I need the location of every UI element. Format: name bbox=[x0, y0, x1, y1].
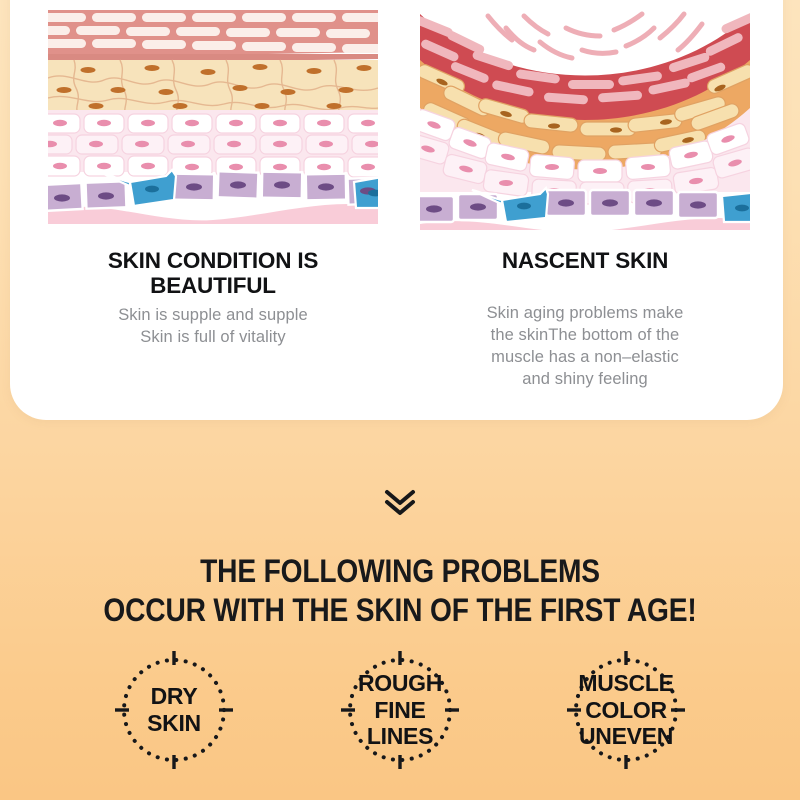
panel-nascent-skin: NASCENT SKIN Skin aging problems make th… bbox=[420, 0, 750, 400]
problem-badge-line: MUSCLE bbox=[578, 670, 673, 697]
healthy-skin-illustration bbox=[48, 10, 378, 240]
panel-title: SKIN CONDITION IS BEAUTIFUL bbox=[48, 248, 378, 299]
panel-body: Skin is supple and supple Skin is full o… bbox=[48, 305, 378, 349]
problem-badge-line: LINES bbox=[367, 723, 433, 750]
panel-body-line: Skin is supple and supple bbox=[48, 305, 378, 327]
problem-badge-label: ROUGH FINE LINES bbox=[317, 645, 483, 775]
panel-body-line: muscle has a non–elastic bbox=[420, 347, 750, 369]
panel-healthy-skin: SKIN CONDITION IS BEAUTIFUL Skin is supp… bbox=[48, 0, 378, 400]
problem-badge-rough-fine-lines: ROUGH FINE LINES bbox=[335, 645, 465, 775]
problem-badge-line: DRY bbox=[151, 683, 198, 710]
panel-body-line: and shiny feeling bbox=[420, 369, 750, 391]
page-headline: THE FOLLOWING PROBLEMS OCCUR WITH THE SK… bbox=[0, 552, 800, 631]
problem-badge-line: ROUGH bbox=[358, 670, 442, 697]
panel-body-line: Skin aging problems make bbox=[420, 303, 750, 325]
comparison-card: SKIN CONDITION IS BEAUTIFUL Skin is supp… bbox=[10, 0, 783, 420]
panel-body: Skin aging problems make the skinThe bot… bbox=[420, 303, 750, 391]
problem-badge-label: DRY SKIN bbox=[91, 645, 257, 775]
problem-badge-label: MUSCLE COLOR UNEVEN bbox=[543, 645, 709, 775]
problem-badge-line: COLOR bbox=[585, 697, 667, 724]
panel-body-line: Skin is full of vitality bbox=[48, 327, 378, 349]
aging-skin-illustration bbox=[420, 10, 750, 240]
panel-body-line: the skinThe bottom of the bbox=[420, 325, 750, 347]
panel-title: NASCENT SKIN bbox=[420, 248, 750, 273]
problem-badge-line: UNEVEN bbox=[579, 723, 673, 750]
scroll-down-divider bbox=[0, 488, 800, 518]
problem-badge-line: SKIN bbox=[147, 710, 201, 737]
double-chevron-down-icon bbox=[380, 488, 420, 518]
headline-line-2: OCCUR WITH THE SKIN OF THE FIRST AGE! bbox=[48, 591, 752, 630]
problem-badge-muscle-color-uneven: MUSCLE COLOR UNEVEN bbox=[561, 645, 691, 775]
panels-row: SKIN CONDITION IS BEAUTIFUL Skin is supp… bbox=[10, 0, 783, 400]
problem-badge-line: FINE bbox=[374, 697, 425, 724]
problem-badges-row: DRY SKIN ROUGH FINE LINES bbox=[0, 645, 800, 795]
headline-line-1: THE FOLLOWING PROBLEMS bbox=[48, 552, 752, 591]
problem-badge-dry-skin: DRY SKIN bbox=[109, 645, 239, 775]
